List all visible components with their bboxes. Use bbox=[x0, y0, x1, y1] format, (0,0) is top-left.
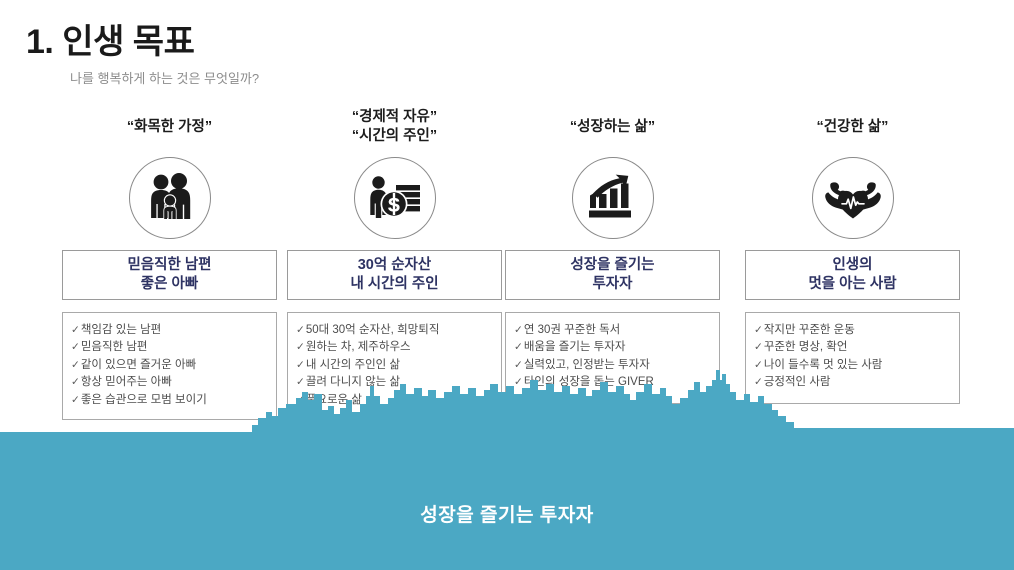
goal-line: 내 시간의 주인 bbox=[350, 275, 438, 294]
list-item-label: 연 30권 꾸준한 독서 bbox=[524, 322, 620, 339]
column-heading-line: “건강한 삶” bbox=[745, 118, 960, 137]
list-item-label: 원하는 차, 제주하우스 bbox=[306, 339, 411, 356]
goal-line: 멋을 아는 사람 bbox=[808, 275, 896, 294]
list-item-label: 배움을 즐기는 투자자 bbox=[524, 339, 626, 356]
list-item: ✓책임감 있는 남편 bbox=[71, 322, 270, 339]
growth-chart-icon bbox=[572, 157, 654, 239]
icon-container: S S bbox=[287, 146, 502, 250]
icon-container bbox=[745, 146, 960, 250]
list-item: ✓원하는 차, 제주하우스 bbox=[296, 339, 495, 356]
goal-line: 인생의 bbox=[808, 256, 896, 275]
column-heading-line: “화목한 가정” bbox=[62, 118, 277, 137]
page-title: 1. 인생 목표 bbox=[26, 14, 194, 63]
check-icon: ✓ bbox=[296, 340, 305, 356]
column-heading: “성장하는 삶” bbox=[505, 108, 720, 146]
banner-text: 성장을 즐기는 투자자 bbox=[0, 500, 1014, 527]
check-icon: ✓ bbox=[71, 340, 80, 356]
list-item-label: 50대 30억 순자산, 희망퇴직 bbox=[306, 322, 440, 339]
goal-box: 성장을 즐기는 투자자 bbox=[505, 250, 720, 300]
list-item: ✓배움을 즐기는 투자자 bbox=[514, 339, 713, 356]
check-icon: ✓ bbox=[71, 323, 80, 339]
icon-container bbox=[62, 146, 277, 250]
goal-line: 좋은 아빠 bbox=[127, 275, 211, 294]
check-icon: ✓ bbox=[514, 340, 523, 356]
list-item: ✓작지만 꾸준한 운동 bbox=[754, 322, 953, 339]
check-icon: ✓ bbox=[514, 323, 523, 339]
city-skyline-band: 성장을 즐기는 투자자 bbox=[0, 370, 1014, 570]
goal-column-health: “건강한 삶” bbox=[745, 108, 960, 404]
column-heading-line: “성장하는 삶” bbox=[505, 118, 720, 137]
column-heading-line: “시간의 주인” bbox=[287, 127, 502, 146]
goal-box: 인생의 멋을 아는 사람 bbox=[745, 250, 960, 300]
check-icon: ✓ bbox=[754, 340, 763, 356]
list-item: ✓연 30권 꾸준한 독서 bbox=[514, 322, 713, 339]
slide-canvas: 1. 인생 목표 나를 행복하게 하는 것은 무엇일까? “화목한 가정” bbox=[0, 0, 1014, 570]
goal-box: 30억 순자산 내 시간의 주인 bbox=[287, 250, 502, 300]
icon-container bbox=[505, 146, 720, 250]
check-icon: ✓ bbox=[296, 323, 305, 339]
list-item-label: 책임감 있는 남편 bbox=[81, 322, 161, 339]
column-heading: “경제적 자유” “시간의 주인” bbox=[287, 108, 502, 146]
column-heading-line: “경제적 자유” bbox=[287, 108, 502, 127]
list-item: ✓믿음직한 남편 bbox=[71, 339, 270, 356]
goal-line: 투자자 bbox=[570, 275, 654, 294]
page-subtitle: 나를 행복하게 하는 것은 무엇일까? bbox=[70, 68, 259, 87]
goal-line: 믿음직한 남편 bbox=[127, 256, 211, 275]
strong-heart-icon bbox=[812, 157, 894, 239]
list-item: ✓50대 30억 순자산, 희망퇴직 bbox=[296, 322, 495, 339]
goal-line: 30억 순자산 bbox=[350, 256, 438, 275]
svg-text:S: S bbox=[387, 196, 400, 217]
city-skyline-icon bbox=[0, 370, 1014, 570]
list-item-label: 믿음직한 남편 bbox=[81, 339, 148, 356]
list-item-label: 꾸준한 명상, 확언 bbox=[764, 339, 848, 356]
column-heading: “건강한 삶” bbox=[745, 108, 960, 146]
goal-box: 믿음직한 남편 좋은 아빠 bbox=[62, 250, 277, 300]
goal-column-growth: “성장하는 삶” bbox=[505, 108, 720, 404]
list-item: ✓꾸준한 명상, 확언 bbox=[754, 339, 953, 356]
family-icon bbox=[129, 157, 211, 239]
check-icon: ✓ bbox=[754, 323, 763, 339]
money-person-icon: S S bbox=[354, 157, 436, 239]
column-heading: “화목한 가정” bbox=[62, 108, 277, 146]
goal-line: 성장을 즐기는 bbox=[570, 256, 654, 275]
list-item-label: 작지만 꾸준한 운동 bbox=[764, 322, 855, 339]
